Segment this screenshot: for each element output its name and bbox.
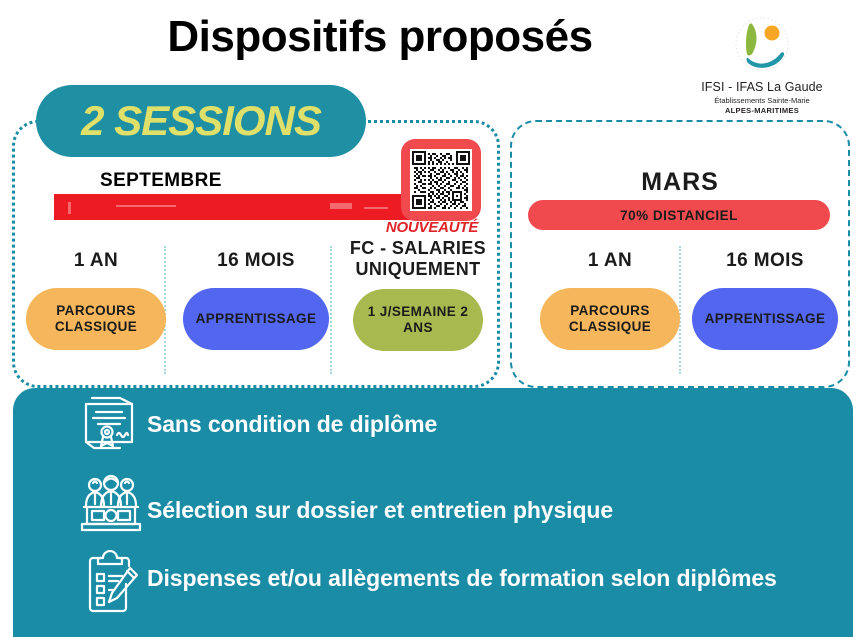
program-pill-apprentissage[interactable]: APPRENTISSAGE xyxy=(692,288,838,350)
duration-label: 16 MOIS xyxy=(690,250,840,272)
duration-label: 1 AN xyxy=(535,250,685,272)
logo-subtitle-2: ALPES-MARITIMES xyxy=(672,106,852,115)
redaction-bar xyxy=(54,194,422,220)
slide-canvas: Dispositifs proposés IFSI - IFAS La Gaud… xyxy=(0,0,862,637)
logo-subtitle-1: Établissements Sainte-Marie xyxy=(672,96,852,105)
feature-text: Sélection sur dossier et entretien physi… xyxy=(147,474,613,524)
page-title: Dispositifs proposés xyxy=(0,14,760,60)
left-column-2: 16 MOIS APPRENTISSAGE xyxy=(182,250,330,350)
jury-panel-icon xyxy=(75,474,147,534)
diploma-certificate-icon xyxy=(75,396,147,452)
nouveaute-badge-label: NOUVEAUTÉ xyxy=(376,219,488,236)
right-column-1: 1 AN PARCOURS CLASSIQUE xyxy=(535,250,685,350)
program-pill-parcours-classique[interactable]: PARCOURS CLASSIQUE xyxy=(540,288,680,350)
duration-label: FC - SALARIES UNIQUEMENT xyxy=(338,238,498,279)
duration-label: 1 AN xyxy=(22,250,170,272)
duration-label: 16 MOIS xyxy=(182,250,330,272)
program-pill-fc-salaries[interactable]: 1 J/SEMAINE 2 ANS xyxy=(353,289,483,351)
sessions-badge-label: 2 SESSIONS xyxy=(81,100,321,142)
logo-name: IFSI - IFAS La Gaude xyxy=(672,80,852,94)
distanciel-highlight-pill: 70% DISTANCIEL xyxy=(528,200,830,230)
feature-row: Dispenses et/ou allègements de formation… xyxy=(75,550,777,616)
program-pill-parcours-classique[interactable]: PARCOURS CLASSIQUE xyxy=(26,288,166,350)
feature-text: Sans condition de diplôme xyxy=(147,396,437,438)
september-session-label: SEPTEMBRE xyxy=(100,170,222,192)
right-column-2: 16 MOIS APPRENTISSAGE xyxy=(690,250,840,350)
feature-text: Dispenses et/ou allègements de formation… xyxy=(147,550,777,592)
sessions-badge: 2 SESSIONS xyxy=(36,85,366,157)
left-column-3: FC - SALARIES UNIQUEMENT 1 J/SEMAINE 2 A… xyxy=(338,238,498,351)
march-session-label: MARS xyxy=(510,168,850,197)
clipboard-pencil-icon xyxy=(75,550,147,616)
conditions-section: Sans condition de diplôme xyxy=(13,388,853,637)
feature-row: Sélection sur dossier et entretien physi… xyxy=(75,474,613,534)
left-column-1: 1 AN PARCOURS CLASSIQUE xyxy=(22,250,170,350)
qr-code-icon xyxy=(410,149,472,211)
program-pill-apprentissage[interactable]: APPRENTISSAGE xyxy=(183,288,329,350)
logo-block: IFSI - IFAS La Gaude Établissements Sain… xyxy=(672,16,852,115)
ifsi-ifas-logo-icon xyxy=(708,16,816,76)
qr-code-card[interactable] xyxy=(401,139,481,221)
feature-row: Sans condition de diplôme xyxy=(75,396,437,452)
column-divider xyxy=(330,246,332,374)
